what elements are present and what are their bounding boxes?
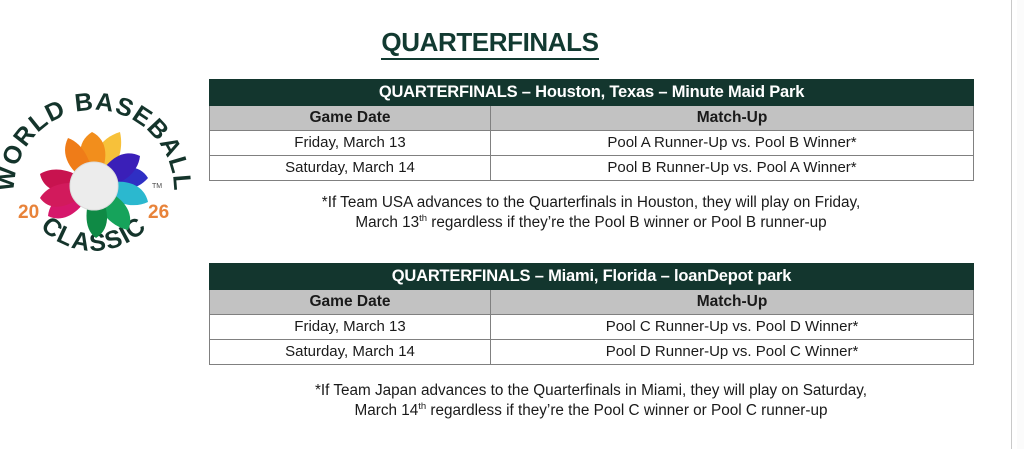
page-margin-strip — [1017, 0, 1024, 449]
logo-year-left: 20 — [18, 202, 39, 223]
venue-header-miami: QUARTERFINALS – Miami, Florida – loanDep… — [210, 264, 974, 290]
cell-game-date: Saturday, March 14 — [210, 340, 491, 365]
logo-trademark: TM — [152, 183, 162, 190]
table-venue-header-row: QUARTERFINALS – Houston, Texas – Minute … — [210, 80, 974, 106]
column-header-game-date: Game Date — [210, 290, 491, 315]
footnote-miami: *If Team Japan advances to the Quarterfi… — [209, 381, 973, 421]
page-title: QUARTERFINALS — [0, 27, 980, 58]
footnote-date-prefix: March 14 — [354, 402, 418, 419]
footnote-ordinal-suffix: th — [419, 213, 427, 224]
logo-year-right: 26 — [148, 202, 169, 223]
quarterfinals-table-miami: QUARTERFINALS – Miami, Florida – loanDep… — [209, 263, 974, 365]
footnote-date-suffix: regardless if they’re the Pool C winner … — [426, 402, 827, 419]
footnote-line-2: March 14th regardless if they’re the Poo… — [209, 401, 973, 421]
page-edge-line — [1011, 0, 1012, 449]
cell-match-up: Pool B Runner-Up vs. Pool A Winner* — [491, 156, 974, 181]
cell-game-date: Friday, March 13 — [210, 131, 491, 156]
footnote-houston: *If Team USA advances to the Quarterfina… — [209, 193, 973, 233]
cell-match-up: Pool C Runner-Up vs. Pool D Winner* — [491, 315, 974, 340]
footnote-line-1: *If Team USA advances to the Quarterfina… — [209, 193, 973, 213]
quarterfinals-table-houston: QUARTERFINALS – Houston, Texas – Minute … — [209, 79, 974, 181]
column-header-match-up: Match-Up — [491, 290, 974, 315]
cell-game-date: Saturday, March 14 — [210, 156, 491, 181]
column-header-match-up: Match-Up — [491, 106, 974, 131]
cell-match-up: Pool A Runner-Up vs. Pool B Winner* — [491, 131, 974, 156]
document-page: WORLD BASEBALL CLASSIC 20 26 TM — [0, 0, 1024, 449]
table-row: Saturday, March 14 Pool B Runner-Up vs. … — [210, 156, 974, 181]
footnote-ordinal-suffix: th — [418, 401, 426, 412]
footnote-date-prefix: March 13 — [355, 214, 419, 231]
footnote-line-2: March 13th regardless if they’re the Poo… — [209, 213, 973, 233]
cell-game-date: Friday, March 13 — [210, 315, 491, 340]
page-title-text: QUARTERFINALS — [381, 27, 598, 60]
table-row: Friday, March 13 Pool A Runner-Up vs. Po… — [210, 131, 974, 156]
world-baseball-classic-logo: WORLD BASEBALL CLASSIC 20 26 TM — [0, 86, 192, 282]
table-venue-header-row: QUARTERFINALS – Miami, Florida – loanDep… — [210, 264, 974, 290]
table-column-header-row: Game Date Match-Up — [210, 290, 974, 315]
column-header-game-date: Game Date — [210, 106, 491, 131]
table-row: Friday, March 13 Pool C Runner-Up vs. Po… — [210, 315, 974, 340]
footnote-date-suffix: regardless if they’re the Pool B winner … — [427, 214, 827, 231]
cell-match-up: Pool D Runner-Up vs. Pool C Winner* — [491, 340, 974, 365]
table-column-header-row: Game Date Match-Up — [210, 106, 974, 131]
footnote-line-1: *If Team Japan advances to the Quarterfi… — [209, 381, 973, 401]
venue-header-houston: QUARTERFINALS – Houston, Texas – Minute … — [210, 80, 974, 106]
table-row: Saturday, March 14 Pool D Runner-Up vs. … — [210, 340, 974, 365]
